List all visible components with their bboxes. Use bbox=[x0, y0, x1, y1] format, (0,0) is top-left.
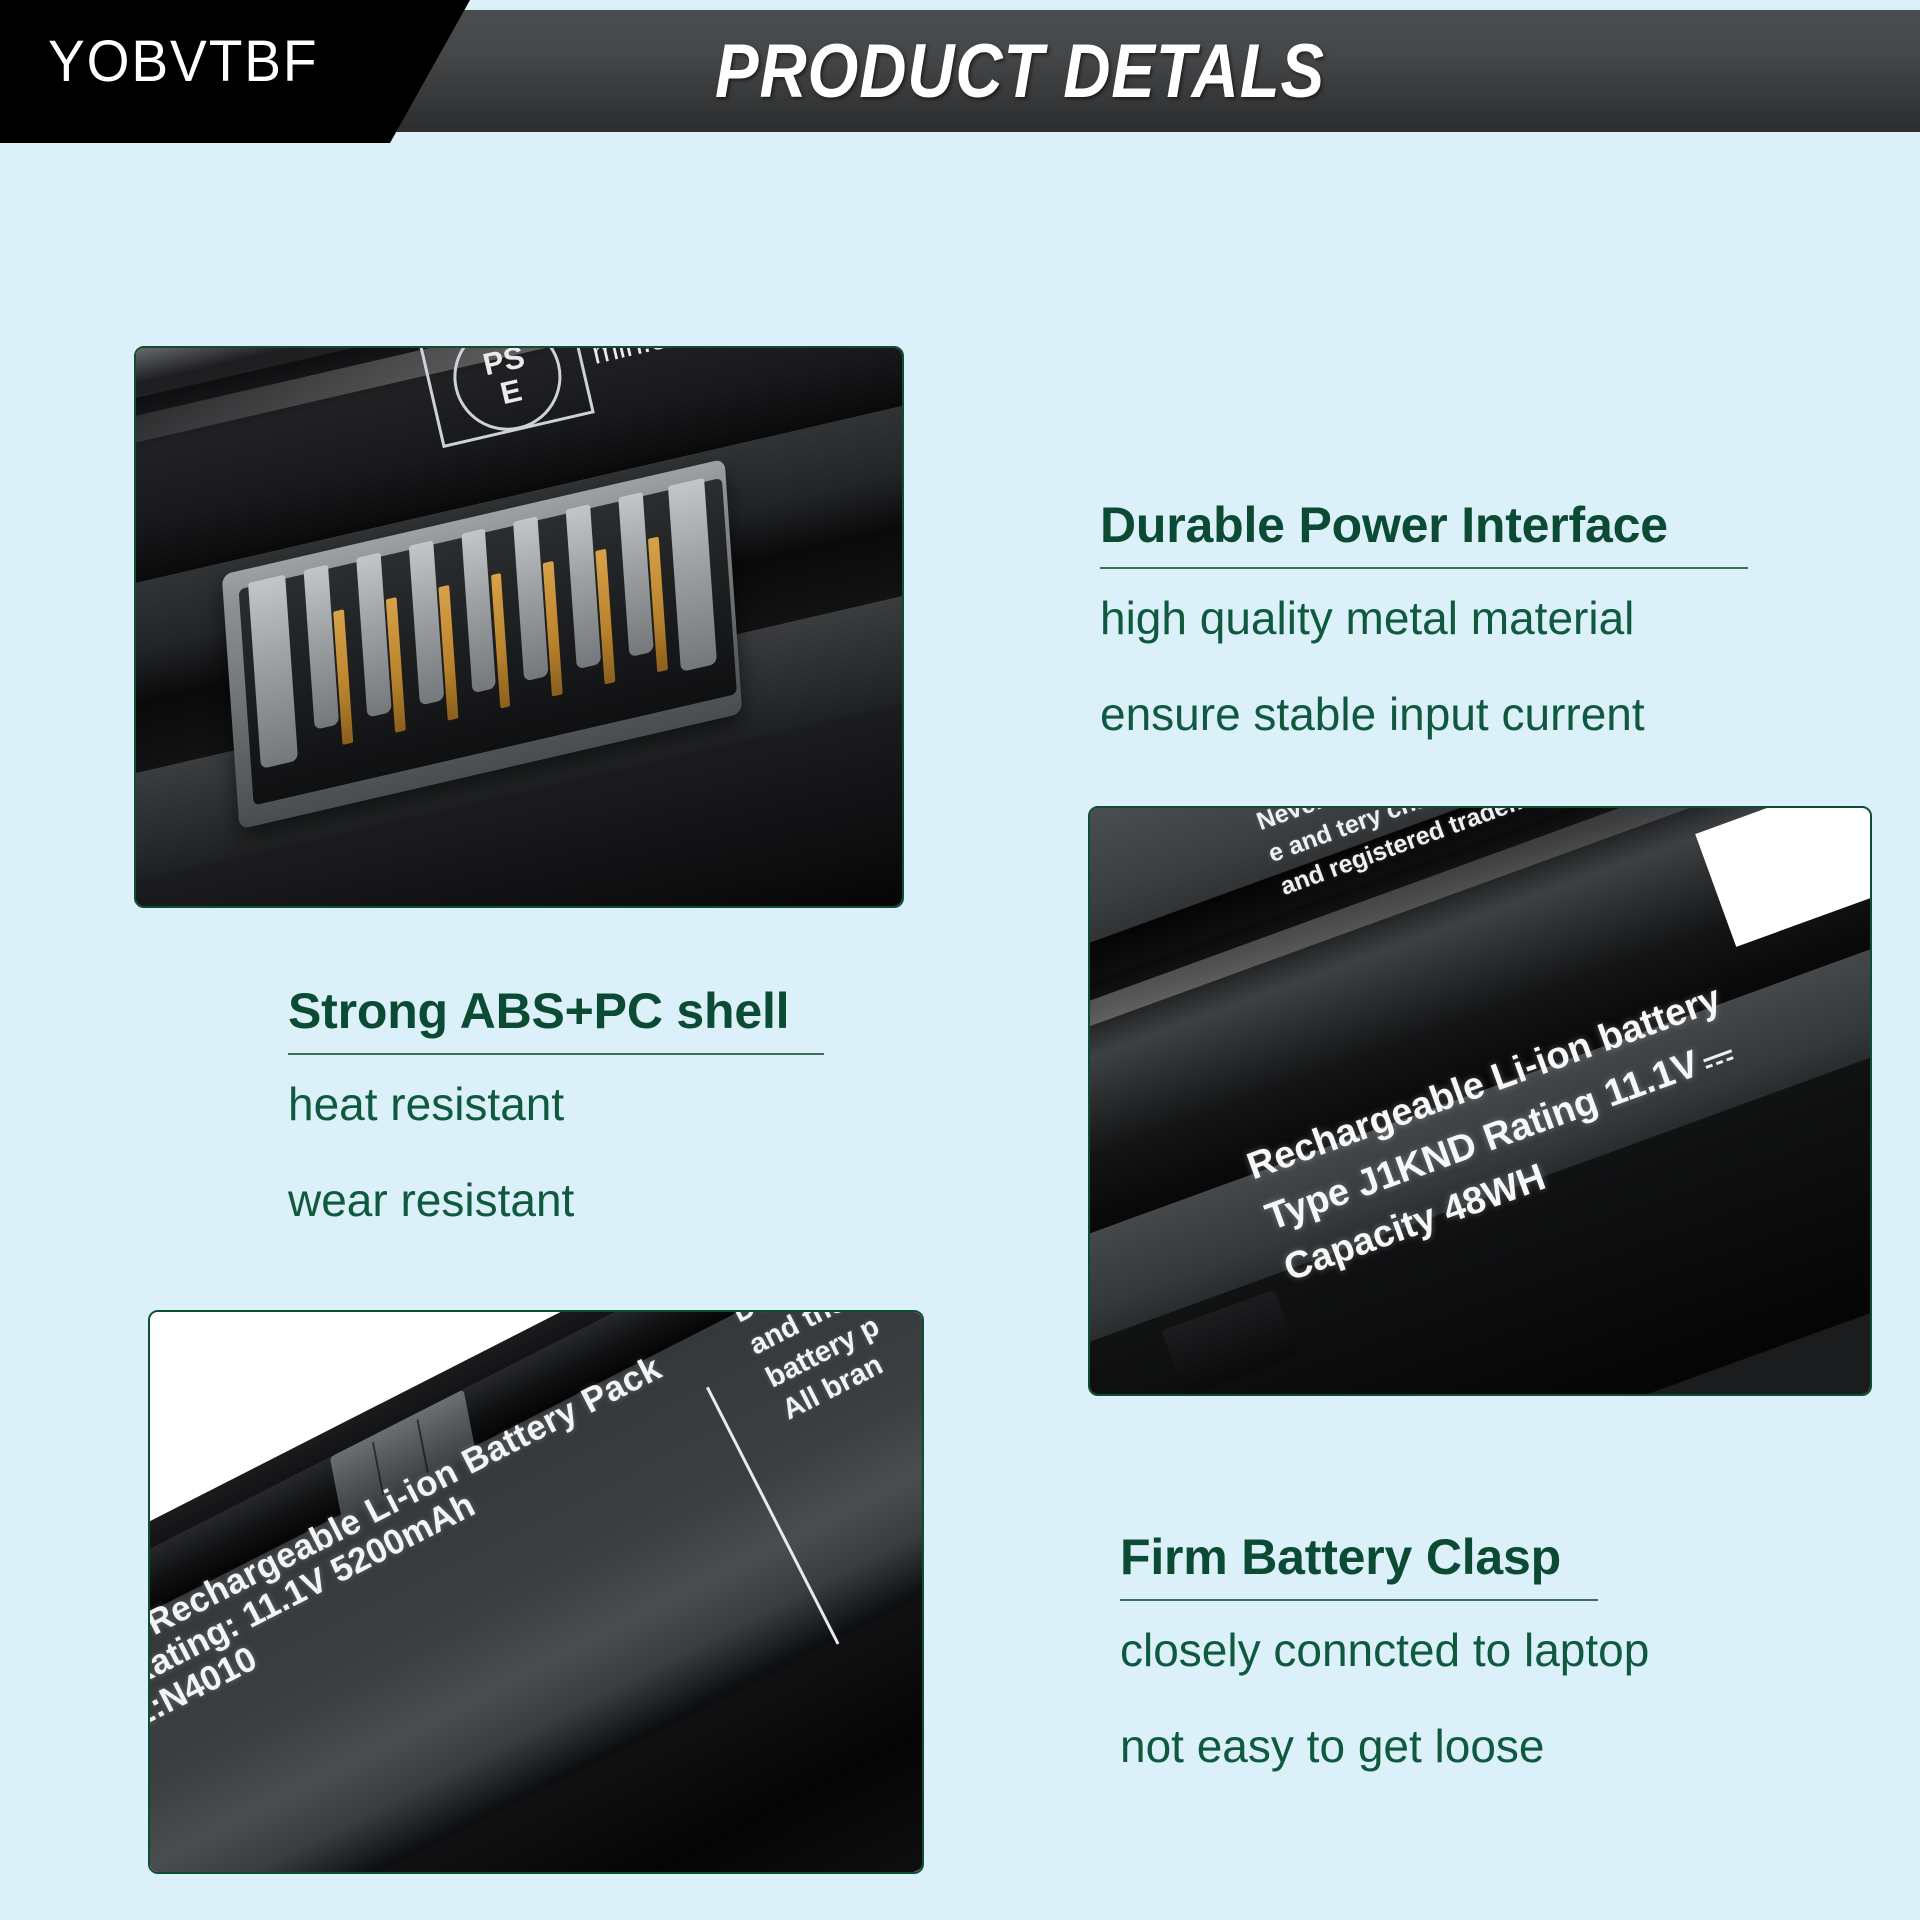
feature-heading: Firm Battery Clasp bbox=[1120, 1530, 1720, 1585]
feature-line: wear resistant bbox=[288, 1177, 828, 1223]
connector-photo: PS E min.5200 ...ery .1V bbox=[136, 348, 902, 906]
page-title: PRODUCT DETALS bbox=[478, 10, 1562, 132]
feature-line: high quality metal material bbox=[1100, 595, 1750, 641]
feature-line: not easy to get loose bbox=[1120, 1723, 1720, 1769]
feature-line: ensure stable input current bbox=[1100, 691, 1750, 737]
feature-heading: Durable Power Interface bbox=[1100, 498, 1750, 553]
feature-heading: Strong ABS+PC shell bbox=[288, 984, 828, 1039]
battery-label-photo: ort circuit). ttery away from it.Do not … bbox=[1090, 808, 1870, 1394]
pse-line-2: E bbox=[497, 374, 524, 409]
photo-panel-connector: PS E min.5200 ...ery .1V bbox=[134, 346, 904, 908]
heading-rule bbox=[1120, 1599, 1598, 1601]
page-header: PRODUCT DETALS YOBVTBF bbox=[0, 0, 1920, 150]
heading-rule bbox=[1100, 567, 1748, 569]
feature-block-durable-power-interface: Durable Power Interface high quality met… bbox=[1100, 498, 1750, 737]
dc-current-icon bbox=[1702, 1048, 1736, 1073]
heading-rule bbox=[288, 1053, 824, 1055]
feature-line: closely conncted to laptop bbox=[1120, 1627, 1720, 1673]
feature-block-strong-abs-pc-shell: Strong ABS+PC shell heat resistant wear … bbox=[288, 984, 828, 1223]
photo-panel-battery-clasp: Rechargeable Li-ion Battery Pack Rating:… bbox=[148, 1310, 924, 1874]
photo-panel-battery-label: ort circuit). ttery away from it.Do not … bbox=[1088, 806, 1872, 1396]
header-banner: PRODUCT DETALS bbox=[390, 10, 1920, 132]
brand-logo-text: YOBVTBF bbox=[48, 28, 318, 95]
battery-clasp-photo: Rechargeable Li-ion Battery Pack Rating:… bbox=[150, 1312, 922, 1872]
feature-block-firm-battery-clasp: Firm Battery Clasp closely conncted to l… bbox=[1120, 1530, 1720, 1769]
feature-line: heat resistant bbox=[288, 1081, 828, 1127]
